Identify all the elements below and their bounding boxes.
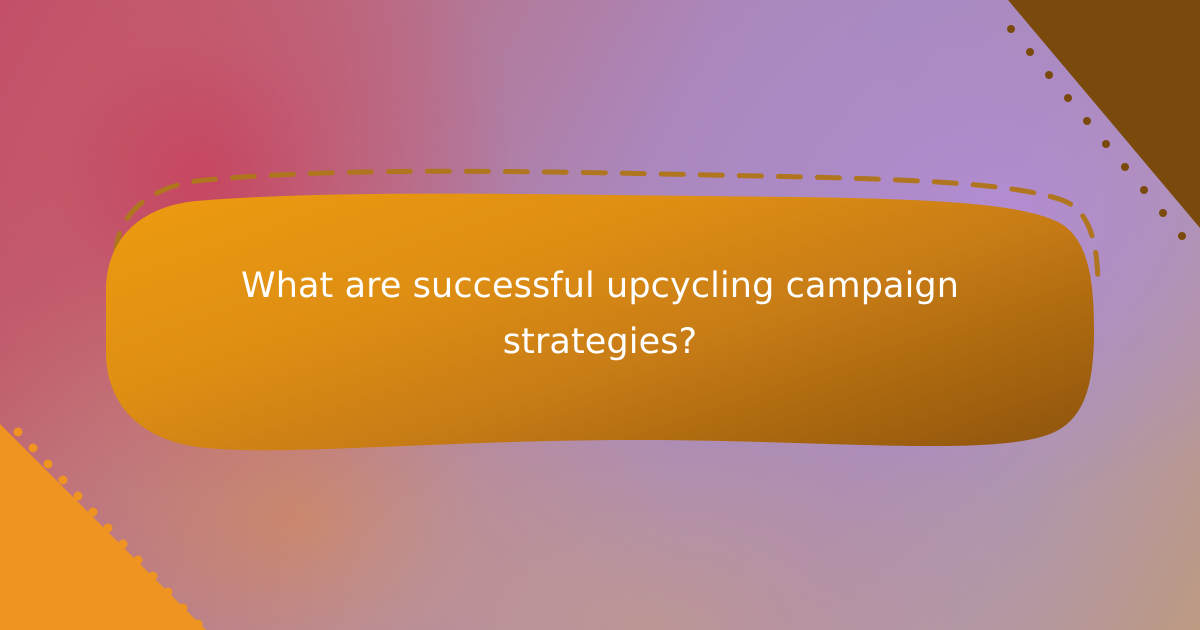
question-card: What are successful upcycling campaign s…	[0, 0, 1200, 630]
page-title: What are successful upcycling campaign s…	[160, 258, 1040, 370]
